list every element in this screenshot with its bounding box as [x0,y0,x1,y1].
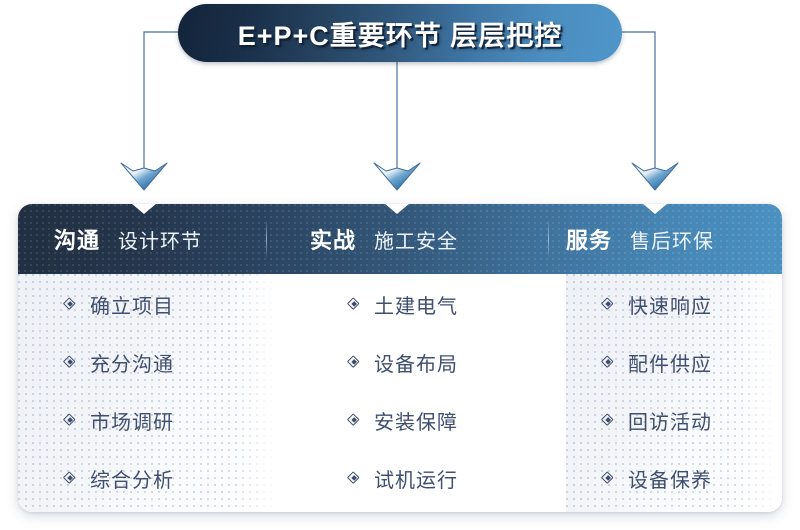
diamond-bullet-icon [348,414,361,427]
list-item[interactable]: 确立项目 [64,290,174,319]
items-layer: 确立项目 充分沟通 市场调研 综合分析 土建电气 [18,274,782,512]
list-item-label: 配件供应 [628,348,712,377]
list-item[interactable]: 综合分析 [64,464,174,493]
list-item-label: 快速响应 [628,290,712,319]
list-item[interactable]: 快速响应 [602,290,712,319]
diamond-bullet-icon [348,298,361,311]
arrowhead-left [121,163,167,190]
list-item[interactable]: 安装保障 [348,406,458,435]
header-subtitle-service: 售后环保 [630,225,714,254]
diamond-bullet-icon [348,356,361,369]
diamond-bullet-icon [64,298,77,311]
list-item-label: 充分沟通 [90,348,174,377]
banner-title: E+P+C重要环节 层层把控 [238,14,563,53]
list-item[interactable]: 配件供应 [602,348,712,377]
arrowhead-center [374,163,420,190]
list-item[interactable]: 试机运行 [348,464,458,493]
card-header: 沟通 设计环节 实战 施工安全 服务 售后环保 [18,204,782,274]
list-item-label: 试机运行 [374,464,458,493]
list-item[interactable]: 设备布局 [348,348,458,377]
arrowhead-right [632,163,678,190]
header-subtitle-practice: 施工安全 [374,225,458,254]
header-divider-1 [266,221,267,257]
header-subtitle-communication: 设计环节 [118,225,202,254]
list-item-label: 市场调研 [90,406,174,435]
list-item[interactable]: 设备保养 [602,464,712,493]
header-title-service: 服务 [566,223,612,255]
list-item-label: 确立项目 [90,290,174,319]
diamond-bullet-icon [64,414,77,427]
list-item[interactable]: 回访活动 [602,406,712,435]
list-item-label: 综合分析 [90,464,174,493]
list-item-label: 设备布局 [374,348,458,377]
header-group-communication[interactable]: 沟通 设计环节 [54,204,202,274]
list-item[interactable]: 市场调研 [64,406,174,435]
list-item-label: 回访活动 [628,406,712,435]
list-item-label: 土建电气 [374,290,458,319]
diamond-bullet-icon [348,472,361,485]
infographic-root: E+P+C重要环节 层层把控 沟通 设计环节 实战 施工安全 服务 售后环保 [0,0,800,530]
header-divider-2 [548,221,549,257]
header-group-practice[interactable]: 实战 施工安全 [310,204,458,274]
diamond-bullet-icon [64,356,77,369]
list-item[interactable]: 充分沟通 [64,348,174,377]
diamond-bullet-icon [602,356,615,369]
title-banner: E+P+C重要环节 层层把控 [178,4,622,62]
process-card: 沟通 设计环节 实战 施工安全 服务 售后环保 确立项目 [18,204,782,512]
header-title-practice: 实战 [310,223,356,255]
header-group-service[interactable]: 服务 售后环保 [566,204,714,274]
diamond-bullet-icon [602,472,615,485]
connector-left [144,32,190,178]
header-title-communication: 沟通 [54,223,100,255]
list-item-label: 设备保养 [628,464,712,493]
diamond-bullet-icon [64,472,77,485]
list-item-label: 安装保障 [374,406,458,435]
diamond-bullet-icon [602,414,615,427]
list-item[interactable]: 土建电气 [348,290,458,319]
card-body: 确立项目 充分沟通 市场调研 综合分析 土建电气 [18,274,782,512]
connector-right [610,32,655,178]
diamond-bullet-icon [602,298,615,311]
